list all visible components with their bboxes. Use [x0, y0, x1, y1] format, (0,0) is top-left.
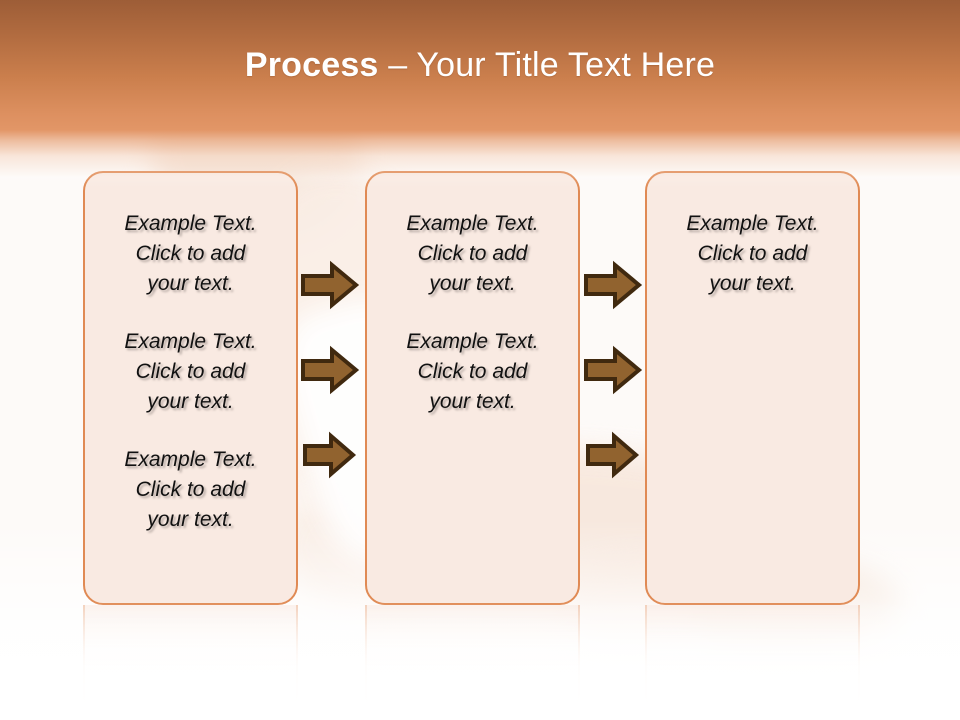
- column-reflection: [83, 605, 298, 715]
- process-column-1[interactable]: Example Text. Click to add your text. Ex…: [83, 171, 298, 605]
- flow-arrow-right-icon[interactable]: [301, 348, 358, 392]
- column-reflection: [365, 605, 580, 715]
- process-column-3[interactable]: Example Text. Click to add your text.: [645, 171, 860, 605]
- flow-arrow-right-icon[interactable]: [303, 434, 355, 476]
- flow-arrow-right-icon[interactable]: [586, 434, 638, 476]
- page-title-strong: Process: [245, 46, 379, 85]
- process-text-block: Example Text. Click to add your text.: [647, 209, 858, 299]
- process-text-block: Example Text. Click to add your text.: [85, 327, 296, 417]
- process-text-block: Example Text. Click to add your text.: [367, 327, 578, 417]
- process-text-block: Example Text. Click to add your text.: [85, 209, 296, 299]
- process-text-block: Example Text. Click to add your text.: [367, 209, 578, 299]
- slide-canvas: Process – Your Title Text Here Example T…: [0, 0, 960, 720]
- flow-arrow-right-icon[interactable]: [301, 263, 358, 307]
- flow-arrow-right-icon[interactable]: [584, 263, 641, 307]
- column-reflection: [645, 605, 860, 715]
- page-title-rest: – Your Title Text Here: [379, 46, 716, 85]
- process-text-block: Example Text. Click to add your text.: [85, 445, 296, 535]
- flow-arrow-right-icon[interactable]: [584, 348, 641, 392]
- process-column-2[interactable]: Example Text. Click to add your text. Ex…: [365, 171, 580, 605]
- page-title: Process – Your Title Text Here: [0, 0, 960, 130]
